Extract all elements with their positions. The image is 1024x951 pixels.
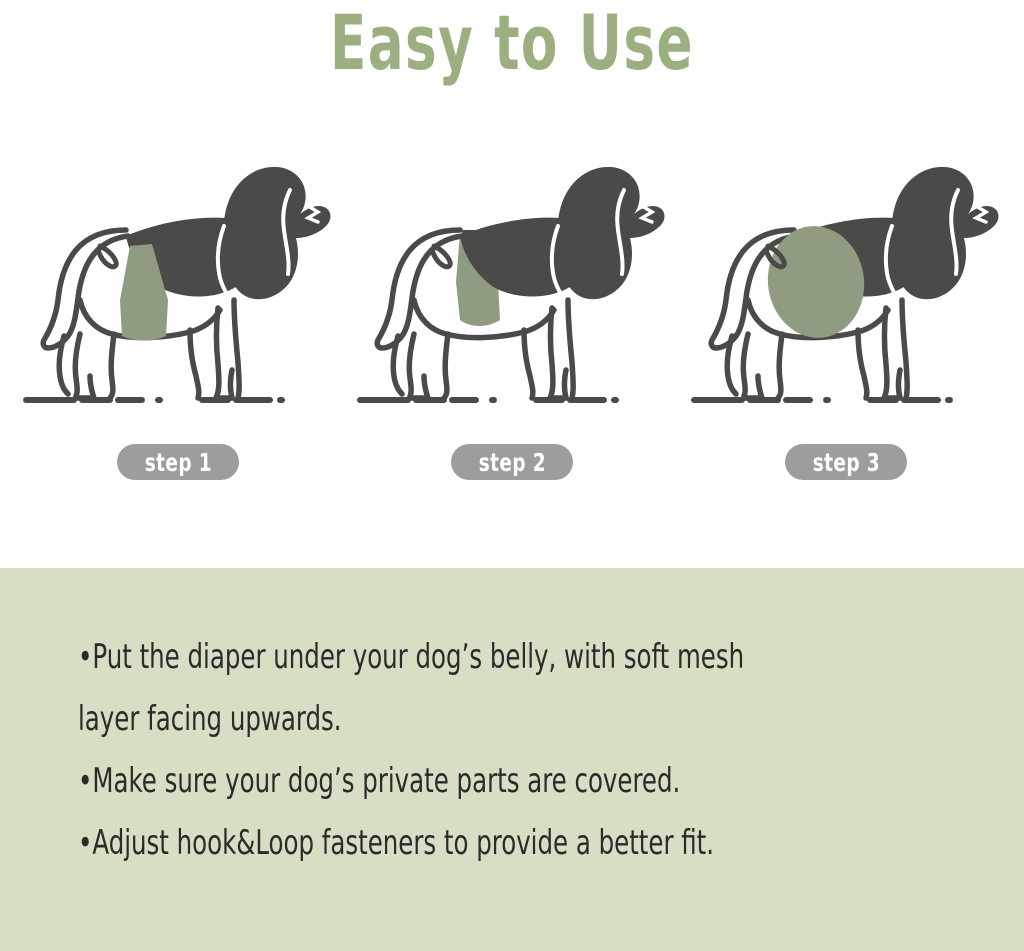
- dog-body-step-1: [26, 167, 331, 400]
- dog-rear-leg-near: [743, 334, 762, 398]
- step-1: step 1: [18, 150, 338, 520]
- step-badge-label: step 2: [478, 448, 545, 477]
- dog-front-leg-far: [190, 330, 199, 398]
- dog-front-leg-second: [902, 300, 907, 398]
- dog-illustration-step-3: [686, 150, 1006, 410]
- dog-body-step-3: [694, 167, 999, 400]
- dog-head-and-ear: [558, 167, 665, 299]
- dog-front-leg-second: [234, 300, 239, 398]
- dog-rear-leg-far: [393, 336, 402, 394]
- dog-rear-leg-near: [75, 334, 94, 398]
- dog-rear-leg-far: [59, 336, 68, 394]
- dog-front-leg-near: [884, 308, 900, 398]
- step-2: step 2: [352, 150, 672, 520]
- step-badge-label: step 3: [812, 448, 879, 477]
- dog-tail-and-rear: [43, 230, 128, 348]
- dog-front-leg-near: [550, 308, 566, 398]
- page-title: Easy to Use: [330, 4, 694, 82]
- dog-illustration-step-1: [18, 150, 338, 410]
- step-badge-3[interactable]: step 3: [785, 444, 908, 480]
- dog-body-step-2: [360, 167, 665, 400]
- dog-rear-leg-far: [727, 336, 736, 394]
- step-badge-1[interactable]: step 1: [117, 444, 240, 480]
- dog-rear-leg-near: [409, 334, 428, 398]
- title-section: Easy to Use: [0, 0, 1024, 100]
- dog-illustration-step-2: [352, 150, 672, 410]
- dog-front-leg-far: [524, 330, 533, 398]
- step-3: step 3: [686, 150, 1006, 520]
- dog-rear-leg-second: [110, 334, 114, 398]
- steps-row: step 1: [0, 150, 1024, 520]
- dog-head-and-ear: [224, 167, 331, 299]
- list-item: •Make sure your dog’s private parts are …: [78, 750, 779, 812]
- list-item: •Adjust hook&Loop fasteners to provide a…: [78, 812, 779, 874]
- step-badge-label: step 1: [144, 448, 211, 477]
- dog-rear-leg-second: [778, 334, 782, 398]
- dog-hip-detail: [98, 246, 116, 267]
- step-badge-2[interactable]: step 2: [451, 444, 574, 480]
- dog-head-and-ear: [892, 167, 999, 299]
- list-item: •Put the diaper under your dog’s belly, …: [78, 626, 779, 750]
- dog-tail-and-rear: [377, 230, 462, 348]
- instructions-panel: •Put the diaper under your dog’s belly, …: [0, 568, 1024, 951]
- dog-rear-leg-second: [444, 334, 448, 398]
- dog-hip-detail: [432, 246, 450, 267]
- dog-front-leg-near: [216, 308, 232, 398]
- instructions-list: •Put the diaper under your dog’s belly, …: [78, 626, 954, 874]
- dog-front-leg-far: [858, 330, 867, 398]
- dog-front-leg-second: [568, 300, 573, 398]
